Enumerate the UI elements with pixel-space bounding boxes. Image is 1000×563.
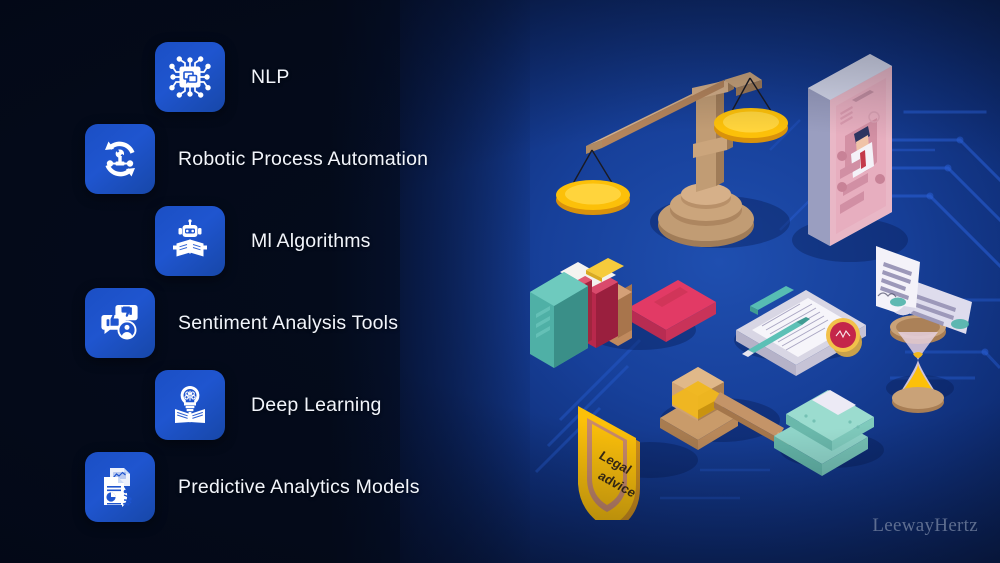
technology-list: NLP: [0, 0, 520, 563]
list-item-label: Ml Algorithms: [251, 230, 371, 253]
list-item-label: Robotic Process Automation: [178, 148, 428, 171]
screenshot-canvas: Legal advice: [0, 0, 1000, 563]
predictive-analytics-icon: [85, 452, 155, 522]
list-item-nlp[interactable]: NLP: [155, 42, 290, 112]
list-item-robotic-process-automation[interactable]: Robotic Process Automation: [85, 124, 428, 194]
sentiment-analysis-icon: [85, 288, 155, 358]
list-item-predictive-analytics-models[interactable]: Predictive Analytics Models: [85, 452, 420, 522]
watermark-leewayhertz: LeewayHertz: [872, 515, 978, 537]
list-item-deep-learning[interactable]: Deep Learning: [155, 370, 382, 440]
list-item-label: Deep Learning: [251, 394, 382, 417]
list-item-label: Predictive Analytics Models: [178, 476, 420, 499]
deep-learning-bulb-book-icon: [155, 370, 225, 440]
list-item-label: NLP: [251, 66, 290, 89]
ml-algorithms-robot-book-icon: [155, 206, 225, 276]
nlp-chip-icon: [155, 42, 225, 112]
robotic-process-automation-icon: [85, 124, 155, 194]
list-item-sentiment-analysis-tools[interactable]: Sentiment Analysis Tools: [85, 288, 398, 358]
list-item-label: Sentiment Analysis Tools: [178, 312, 398, 335]
list-item-ml-algorithms[interactable]: Ml Algorithms: [155, 206, 371, 276]
